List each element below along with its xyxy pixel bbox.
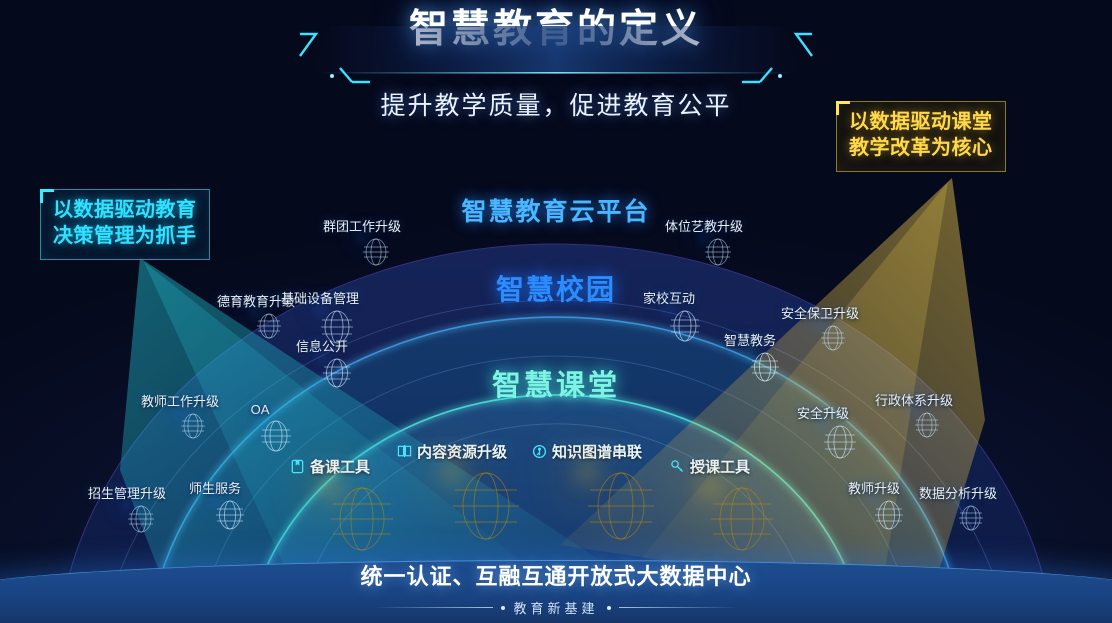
node-label: 智慧教务 (724, 330, 776, 349)
corner-bracket-icon (836, 101, 850, 115)
key-icon (670, 459, 685, 474)
core-item-label-wrap: 授课工具 (670, 456, 750, 477)
slide-canvas: 智慧教育的定义 提升教学质量，促进教育公平 以数据驱动教育 决策管理为抓手 以数… (0, 0, 1112, 623)
dot-icon (501, 606, 505, 610)
divider-line-left (373, 607, 493, 608)
callout-right-line2: 教学改革为核心 (849, 135, 993, 161)
node-label: 行政体系升级 (875, 390, 953, 409)
node-label: 群团工作升级 (323, 216, 401, 235)
divider-line-right (619, 607, 739, 608)
node-label: 家校互动 (643, 288, 695, 307)
core-item-label: 内容资源升级 (417, 441, 507, 462)
core-item-label-wrap: 知识图谱串联 (532, 441, 642, 462)
core-item-label: 知识图谱串联 (552, 441, 642, 462)
footer-title: 统一认证、互融互通开放式大数据中心 (0, 559, 1112, 591)
footer-subtitle-wrap: 教育新基建 (0, 598, 1112, 617)
node-label: 体位艺教升级 (665, 216, 743, 235)
core-item-label: 备课工具 (310, 456, 370, 477)
core-item-label: 授课工具 (690, 456, 750, 477)
node-label: 教师升级 (848, 478, 900, 497)
band-label-cloud-platform: 智慧教育云平台 (0, 192, 1112, 228)
core-item-label-wrap: 备课工具 (290, 456, 370, 477)
node-label: 信息公开 (296, 336, 348, 355)
band-label-smart-campus: 智慧校园 (0, 268, 1112, 308)
callout-right: 以数据驱动课堂 教学改革为核心 (836, 101, 1006, 172)
node-label: 基础设备管理 (281, 288, 359, 307)
node-label: 教师工作升级 (141, 391, 219, 410)
node-label: 数据分析升级 (919, 483, 997, 502)
title-block: 智慧教育的定义 (0, 6, 1112, 55)
node-label: 安全升级 (797, 403, 849, 422)
notebook-icon (290, 459, 305, 474)
node-label: 师生服务 (189, 478, 241, 497)
knowledge-graph-icon (532, 444, 547, 459)
node-label: 招生管理升级 (88, 483, 166, 502)
dot-icon (607, 606, 611, 610)
callout-right-line1: 以数据驱动课堂 (849, 109, 993, 135)
node-label: 安全保卫升级 (781, 303, 859, 322)
open-book-icon (397, 444, 412, 459)
core-item-label-wrap: 内容资源升级 (397, 441, 507, 462)
node-label: OA (251, 402, 270, 417)
footer-subtitle: 教育新基建 (513, 598, 598, 617)
